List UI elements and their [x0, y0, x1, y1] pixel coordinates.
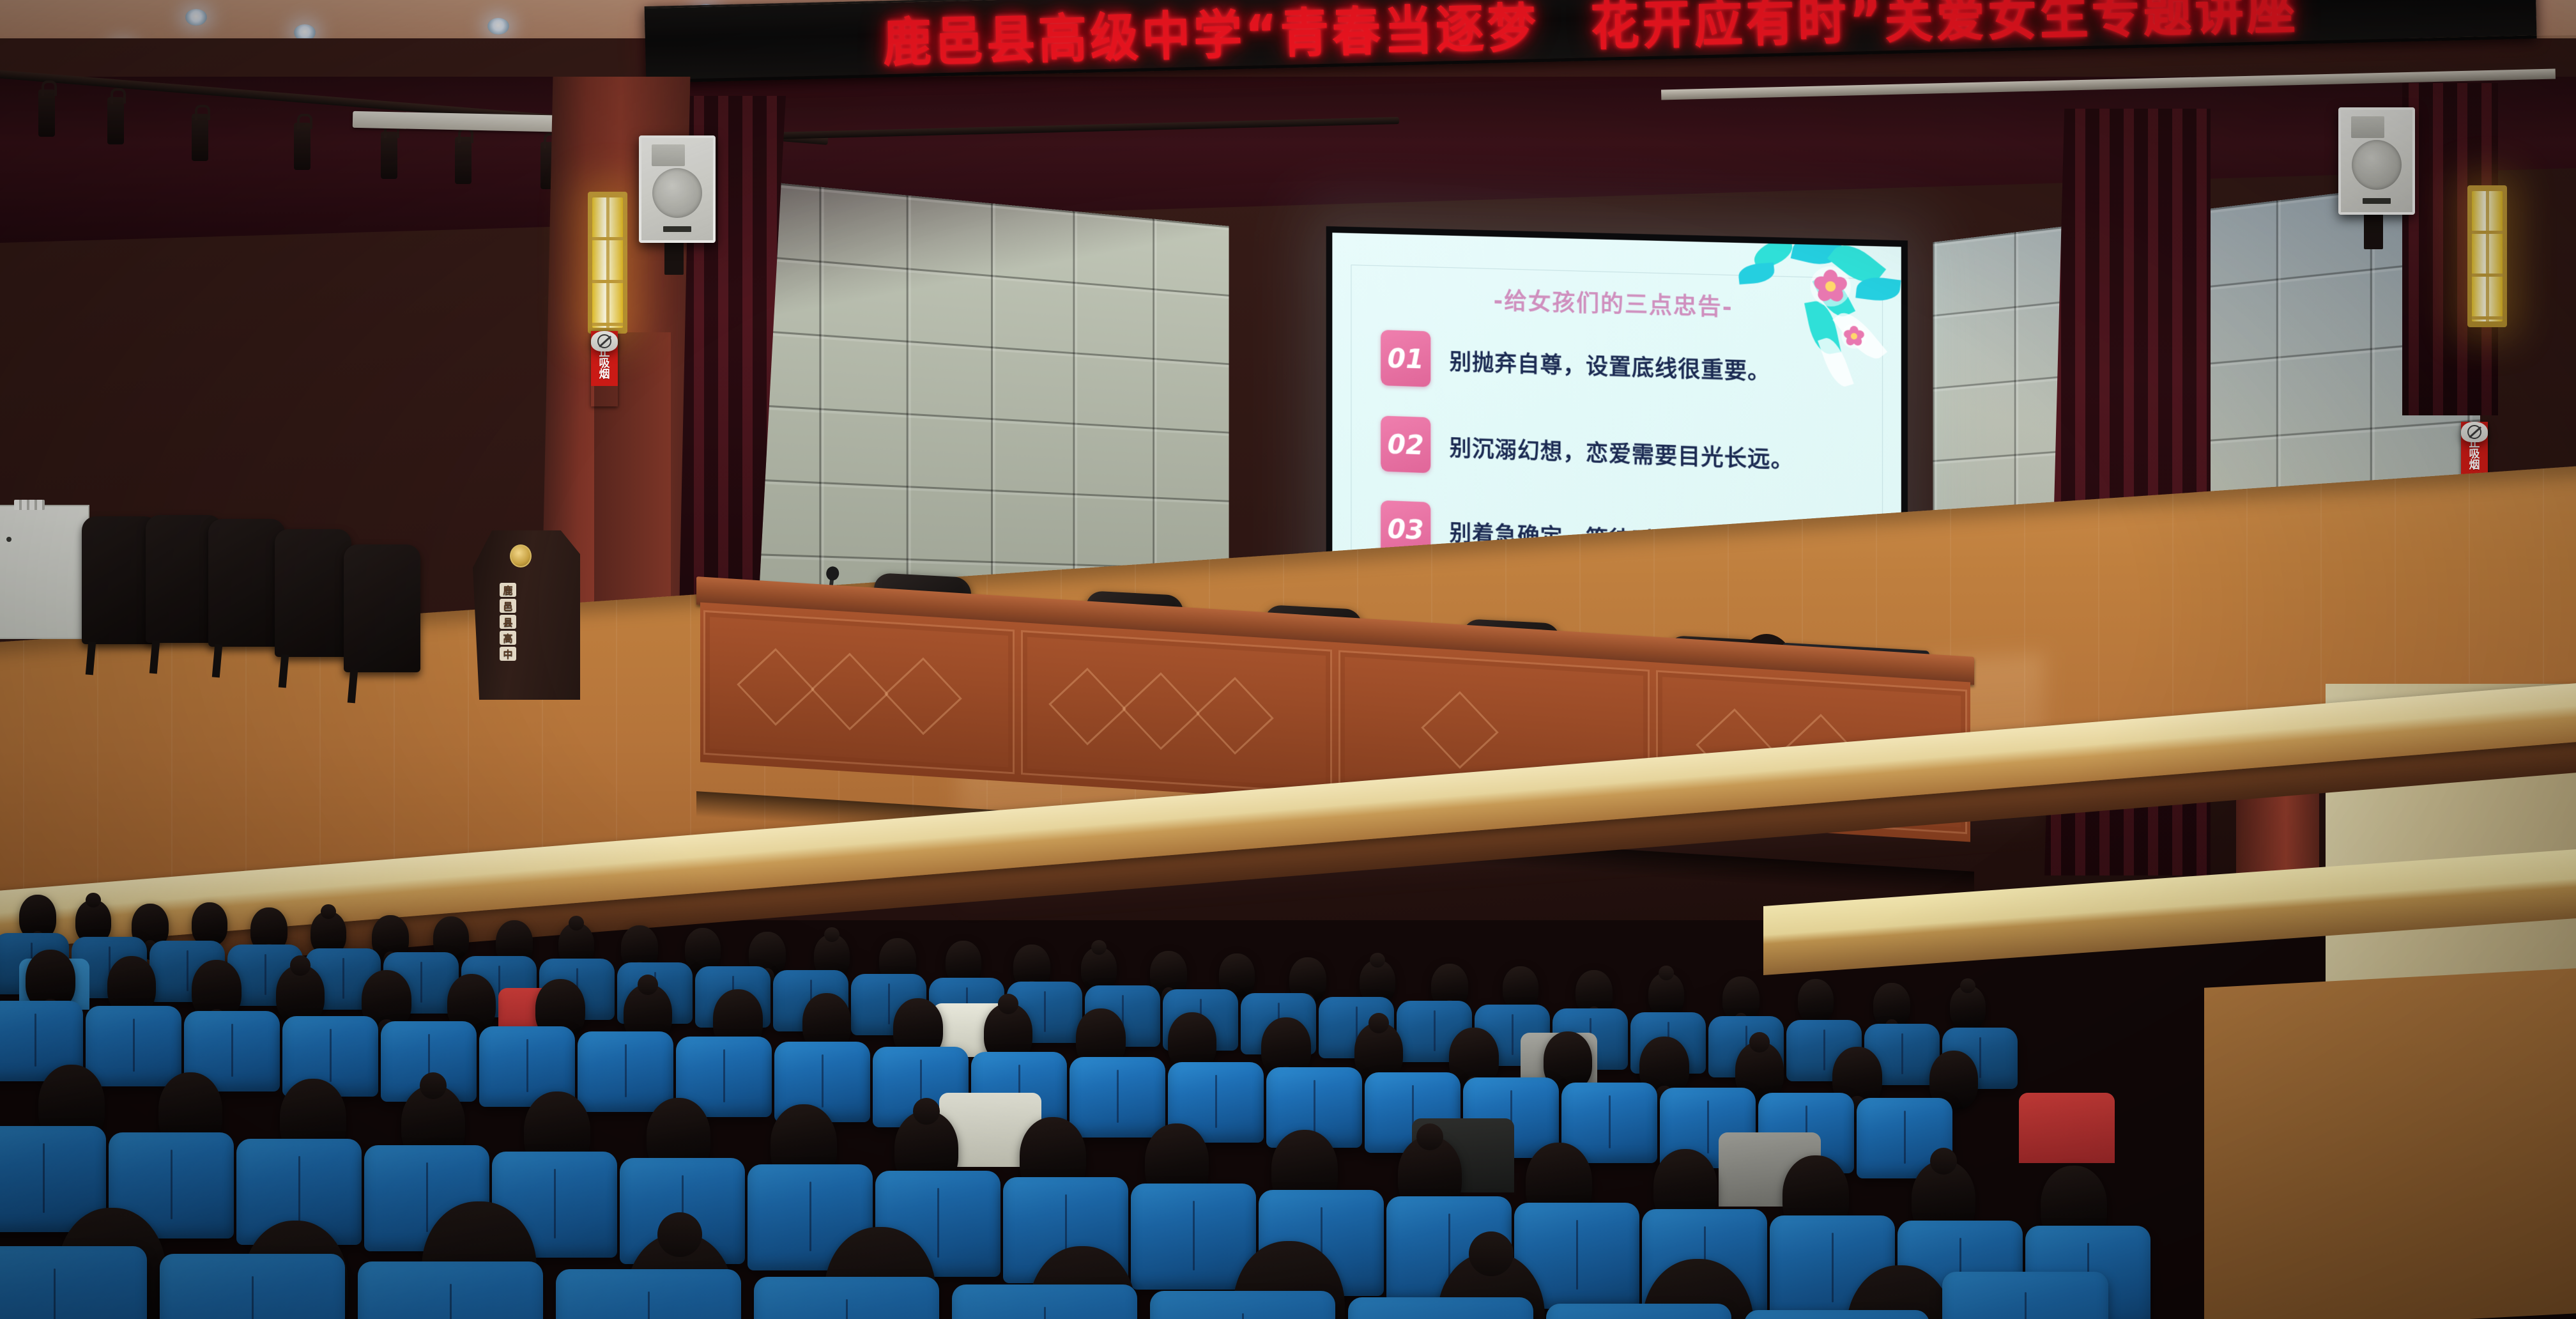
- truss-clamp: [381, 132, 397, 179]
- audience-head: [1873, 983, 1910, 1028]
- table-panel: [703, 610, 1015, 775]
- podium-school-name: 鹿 邑 县 高 中: [497, 583, 519, 661]
- audience-seating: [0, 888, 2576, 1319]
- auditorium-seat[interactable]: [1744, 1310, 1929, 1319]
- auditorium-scene: 鹿邑县高级中学“青春当逐梦 花开应有时”关爱女生专题讲座 禁止吸烟: [0, 0, 2576, 1319]
- truss-clamp: [107, 97, 124, 144]
- speaker-woofer: [652, 168, 702, 218]
- auditorium-seat[interactable]: [952, 1284, 1137, 1319]
- speaker-badge: [2363, 198, 2391, 204]
- auditorium-seat[interactable]: [578, 1031, 673, 1112]
- auditorium-seat[interactable]: [358, 1261, 543, 1319]
- audience-head: [192, 902, 227, 946]
- podium-char: 县: [500, 615, 516, 629]
- sconce-glass: [592, 197, 623, 328]
- auditorium-seat[interactable]: [160, 1254, 345, 1319]
- stacked-chair: [275, 529, 351, 657]
- speaker-tweeter: [652, 144, 685, 166]
- auditorium-seat[interactable]: [0, 1246, 147, 1319]
- audience-head: [1722, 976, 1759, 1021]
- auditorium-seat[interactable]: [1131, 1184, 1256, 1290]
- podium-char: 高: [500, 631, 516, 645]
- auditorium-seat[interactable]: [1069, 1057, 1165, 1138]
- equipment-cabinet: [0, 505, 89, 639]
- auditorium-seat[interactable]: [1942, 1272, 2108, 1319]
- speaker-woofer: [2352, 140, 2402, 190]
- speaker-tweeter: [2351, 116, 2384, 138]
- truss-clamp: [455, 137, 471, 184]
- advice-number-badge: 02: [1381, 415, 1430, 473]
- wall-speaker-left: [639, 135, 716, 243]
- speaker-bracket-right: [2364, 211, 2383, 249]
- audience-head: [1081, 947, 1117, 991]
- no-smoking-sign-left: 禁止吸烟: [591, 331, 618, 406]
- stacked-chair: [208, 519, 285, 647]
- audience-head: [276, 965, 325, 1024]
- power-strip: [14, 500, 45, 510]
- truss-clamp: [192, 114, 208, 161]
- podium-emblem: [510, 544, 532, 567]
- acoustic-panel-wall-left: [730, 178, 1229, 612]
- podium-char: 邑: [500, 599, 516, 613]
- ceiling-spotlight: [487, 18, 509, 35]
- auditorium-seat[interactable]: [754, 1277, 939, 1319]
- sconce-glass: [2472, 191, 2503, 321]
- advice-number-badge: 01: [1381, 330, 1430, 387]
- podium-char: 中: [500, 647, 516, 661]
- advice-text: 别沉溺幻想，恋爱需要目光长远。: [1450, 430, 1794, 475]
- truss-clamp: [38, 89, 55, 137]
- audience-head: [1648, 973, 1684, 1016]
- no-smoking-icon: [591, 331, 618, 351]
- no-smoking-icon: [2461, 422, 2488, 442]
- speaker-badge: [663, 226, 691, 232]
- advice-text: 别抛弃自尊，设置底线很重要。: [1450, 344, 1771, 387]
- auditorium-seat[interactable]: [1348, 1297, 1533, 1319]
- auditorium-seat[interactable]: [1546, 1304, 1731, 1319]
- truss-clamp: [294, 123, 310, 170]
- wall-speaker-right: [2338, 107, 2415, 215]
- auditorium-seat[interactable]: [556, 1269, 741, 1319]
- ceiling-spotlight: [185, 9, 207, 26]
- student-uniform: [2019, 1093, 2115, 1163]
- wall-sconce-left: [588, 192, 627, 334]
- table-panel: [1021, 630, 1332, 794]
- audience-head: [685, 928, 721, 971]
- wall-sconce-right: [2467, 185, 2507, 327]
- audience-head: [1503, 966, 1538, 1010]
- auditorium-seat[interactable]: [86, 1006, 181, 1086]
- audience-head: [1950, 985, 1986, 1029]
- auditorium-seat[interactable]: [1150, 1291, 1335, 1319]
- podium-char: 鹿: [500, 583, 516, 597]
- stacked-chair: [344, 544, 420, 672]
- audience-head: [1798, 979, 1834, 1022]
